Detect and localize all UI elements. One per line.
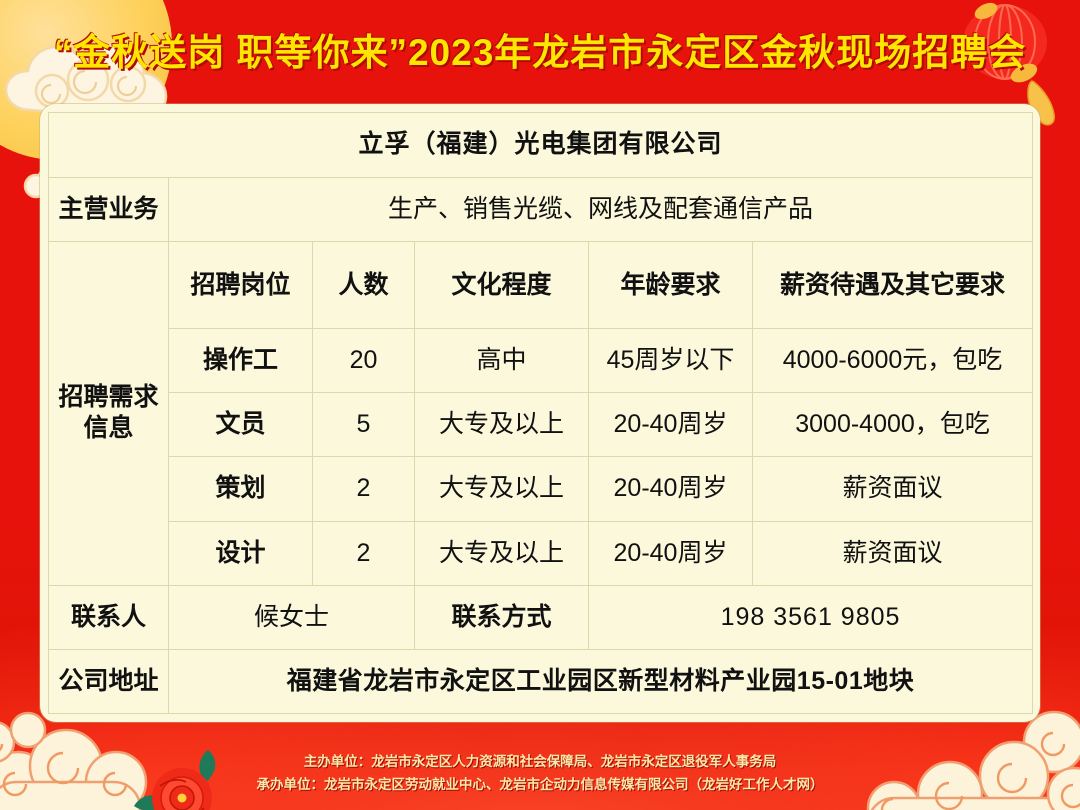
needs-label: 招聘需求信息 [49, 242, 169, 586]
job-count: 2 [313, 457, 415, 521]
business-label: 主营业务 [49, 178, 169, 242]
job-age: 20-40周岁 [589, 393, 753, 457]
table-row: 策划 2 大专及以上 20-40周岁 薪资面议 [49, 457, 1033, 521]
column-header-count: 人数 [313, 242, 415, 329]
column-header-salary: 薪资待遇及其它要求 [753, 242, 1033, 329]
contact-method-label: 联系方式 [415, 585, 589, 649]
table-row: 设计 2 大专及以上 20-40周岁 薪资面议 [49, 521, 1033, 585]
job-salary: 薪资面议 [753, 521, 1033, 585]
column-header-age: 年龄要求 [589, 242, 753, 329]
job-education: 高中 [415, 329, 589, 393]
job-education: 大专及以上 [415, 457, 589, 521]
table-row-address: 公司地址 福建省龙岩市永定区工业园区新型材料产业园15-01地块 [49, 649, 1033, 713]
footer-coorganizer: 承办单位：龙岩市永定区劳动就业中心、龙岩市企动力信息传媒有限公司（龙岩好工作人才… [0, 774, 1080, 796]
job-age: 45周岁以下 [589, 329, 753, 393]
job-salary: 3000-4000，包吃 [753, 393, 1033, 457]
job-position: 设计 [169, 521, 313, 585]
table-row: 操作工 20 高中 45周岁以下 4000-6000元，包吃 [49, 329, 1033, 393]
job-count: 20 [313, 329, 415, 393]
job-salary: 4000-6000元，包吃 [753, 329, 1033, 393]
job-count: 2 [313, 521, 415, 585]
business-value: 生产、销售光缆、网线及配套通信产品 [169, 178, 1033, 242]
job-position: 文员 [169, 393, 313, 457]
address-value: 福建省龙岩市永定区工业园区新型材料产业园15-01地块 [169, 649, 1033, 713]
recruitment-table: 立孚（福建）光电集团有限公司 主营业务 生产、销售光缆、网线及配套通信产品 招聘… [48, 112, 1033, 714]
table-row-headers: 招聘需求信息 招聘岗位 人数 文化程度 年龄要求 薪资待遇及其它要求 [49, 242, 1033, 329]
job-age: 20-40周岁 [589, 457, 753, 521]
footer-organizer: 主办单位：龙岩市永定区人力资源和社会保障局、龙岩市永定区退役军人事务局 [0, 751, 1080, 773]
table-row-contact: 联系人 候女士 联系方式 198 3561 9805 [49, 585, 1033, 649]
job-education: 大专及以上 [415, 393, 589, 457]
column-header-education: 文化程度 [415, 242, 589, 329]
job-education: 大专及以上 [415, 521, 589, 585]
contact-person-value: 候女士 [169, 585, 415, 649]
address-label: 公司地址 [49, 649, 169, 713]
footer: 主办单位：龙岩市永定区人力资源和社会保障局、龙岩市永定区退役军人事务局 承办单位… [0, 751, 1080, 796]
column-header-position: 招聘岗位 [169, 242, 313, 329]
contact-method-value: 198 3561 9805 [589, 585, 1033, 649]
job-position: 策划 [169, 457, 313, 521]
table-row: 文员 5 大专及以上 20-40周岁 3000-4000，包吃 [49, 393, 1033, 457]
job-salary: 薪资面议 [753, 457, 1033, 521]
table-row-business: 主营业务 生产、销售光缆、网线及配套通信产品 [49, 178, 1033, 242]
table-row-company: 立孚（福建）光电集团有限公司 [49, 113, 1033, 178]
contact-person-label: 联系人 [49, 585, 169, 649]
job-position: 操作工 [169, 329, 313, 393]
job-age: 20-40周岁 [589, 521, 753, 585]
job-count: 5 [313, 393, 415, 457]
poster-background: “金秋送岗 职等你来”2023年龙岩市永定区金秋现场招聘会 立孚（福建）光电集团… [0, 0, 1080, 810]
company-name: 立孚（福建）光电集团有限公司 [49, 113, 1033, 178]
page-title: “金秋送岗 职等你来”2023年龙岩市永定区金秋现场招聘会 [0, 22, 1080, 76]
recruitment-card: 立孚（福建）光电集团有限公司 主营业务 生产、销售光缆、网线及配套通信产品 招聘… [40, 104, 1040, 722]
